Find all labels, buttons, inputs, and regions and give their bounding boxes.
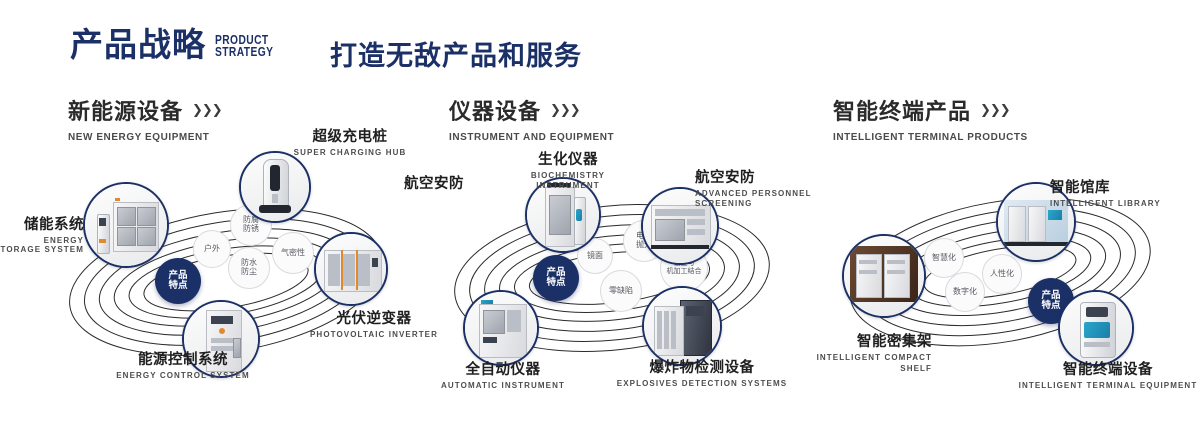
node-label-en: INTELLIGENT TERMINAL EQUIPMENT [1018,381,1198,390]
node-label-en: BIOCHEMISTRY INSTRUMENT [508,171,628,191]
chevron-right-icon: ❯❯❯ [550,102,580,118]
node-photovoltaic-inverter[interactable] [314,232,388,306]
section-title-cn: 智能终端产品 [833,94,971,126]
node-label-cn: 全自动仪器 [428,358,578,379]
title-en: PRODUCT STRATEGY [215,35,273,59]
node-label-cn: 超级充电桩 [275,125,425,146]
node-energy-storage-system[interactable] [83,182,169,268]
page-subtitle: 打造无敌产品和服务 [330,34,582,73]
node-label-cn: 航空安防 [404,172,504,193]
label-explosives-detection-systems: 爆炸物检测设备 EXPLOSIVES DETECTION SYSTEMS [612,356,792,388]
core-line1: 产品 [546,267,565,278]
label-super-charging-hub: 超级充电桩 SUPER CHARGING HUB [275,125,425,157]
feature-label: 镜面 [587,252,603,261]
section-heading-instrument: 仪器设备 ❯❯❯ INSTRUMENT AND EQUIPMENT [449,94,623,143]
node-label-en: ENERGY STORAGE SYSTEM [0,236,84,254]
section-title-en: INTELLIGENT TERMINAL PRODUCTS [833,131,1028,143]
core-line1: 产品 [1041,290,1060,301]
feature-bubble: 户外 [193,230,231,268]
node-label-en: SUPER CHARGING HUB [275,148,425,157]
node-intelligent-compact-shelf[interactable] [842,234,926,318]
node-label-en: ENERGY CONTROL SYSTEM [88,371,278,380]
feature-bubble: 气密性 [272,232,314,274]
section-title-cn: 仪器设备 [449,94,541,126]
automatic-instrument-icon [465,292,537,364]
infographic-canvas: 产品战略 PRODUCT STRATEGY 打造无敌产品和服务 新能源设备 ❯❯… [0,0,1200,422]
label-energy-storage-system: 储能系统 ENERGY STORAGE SYSTEM [0,213,84,254]
title-cn: 产品战略 [70,28,206,61]
feature-bubble: 零缺陷 [600,270,642,312]
node-label-en: INTELLIGENT COMPACT SHELF [802,353,932,375]
explosives-detector-icon [644,288,720,364]
compact-shelf-icon [844,236,924,316]
node-super-charging-hub[interactable] [239,151,311,223]
feature-label: 智慧化 [932,254,956,263]
core-line2: 特点 [1041,300,1060,311]
section-title-en: NEW ENERGY EQUIPMENT [68,131,214,143]
feature-label: 气密性 [281,249,305,258]
node-automatic-instrument[interactable] [463,290,539,366]
section-title-en: INSTRUMENT AND EQUIPMENT [449,131,614,143]
charging-pile-icon [241,153,309,221]
label-automatic-instrument: 全自动仪器 AUTOMATIC INSTRUMENT [428,358,578,390]
label-energy-control-system: 能源控制系统 ENERGY CONTROL SYSTEM [88,348,278,380]
pv-inverter-cabinet-icon [316,234,386,304]
node-label-cn: 生化仪器 [508,148,628,169]
feature-label: 数字化 [953,288,977,297]
feature-bubble: 人性化 [982,254,1022,294]
cluster-instrument: 产品特点 镜面 电解 抛光 钣金与 机加工结合 零缺陷 生化仪器 BIOCHEM… [420,150,820,410]
node-label-cn: 爆炸物检测设备 [612,356,792,377]
feature-label: 防水 防尘 [241,259,257,276]
energy-storage-cabinet-icon [85,184,167,266]
core-line2: 特点 [546,277,565,288]
node-label-cn: 储能系统 [0,213,84,234]
label-intelligent-terminal-equipment: 智能终端设备 INTELLIGENT TERMINAL EQUIPMENT [1018,358,1198,390]
node-explosives-detection-systems[interactable] [642,286,722,366]
terminal-kiosk-icon [1060,292,1132,364]
page-title: 产品战略 PRODUCT STRATEGY [70,28,286,61]
node-label-cn: 智能密集架 [802,330,932,351]
node-label-cn: 能源控制系统 [88,348,278,369]
section-heading-new-energy: 新能源设备 ❯❯❯ NEW ENERGY EQUIPMENT [68,94,222,143]
label-intelligent-library: 智能馆库 INTELLIGENT LIBRARY [1050,176,1200,208]
core-line2: 特点 [168,280,187,291]
chevron-right-icon: ❯❯❯ [192,102,222,118]
node-intelligent-terminal-equipment[interactable] [1058,290,1134,366]
node-label-cn: 智能终端设备 [1018,358,1198,379]
cluster-new-energy: 产品特点 户外 防腐 防锈 气密性 防水 防尘 储能系统 ENERGY STOR… [30,150,430,410]
label-biochemistry-instrument: 生化仪器 BIOCHEMISTRY INSTRUMENT [508,148,628,191]
node-label-en: EXPLOSIVES DETECTION SYSTEMS [612,379,792,388]
cluster-intelligent-terminal: 智慧化 人性化 数字化 产品特点 智能馆库 INTELLIGENT LIBRAR… [810,150,1200,410]
label-aviation-security-left: 航空安防 [404,172,504,193]
chevron-right-icon: ❯❯❯ [980,102,1010,118]
feature-label: 户外 [204,245,220,254]
core-line1: 产品 [168,270,187,281]
section-title-cn: 新能源设备 [68,94,183,126]
node-label-en: AUTOMATIC INSTRUMENT [428,381,578,390]
title-en-line2: STRATEGY [215,47,273,59]
feature-label: 人性化 [990,270,1014,279]
feature-label: 零缺陷 [609,287,633,296]
section-heading-intelligent-terminal: 智能终端产品 ❯❯❯ INTELLIGENT TERMINAL PRODUCTS [833,94,1038,143]
core-badge-instrument: 产品特点 [533,255,579,301]
feature-bubble: 数字化 [945,272,985,312]
feature-bubble: 防水 防尘 [228,247,270,289]
label-intelligent-compact-shelf: 智能密集架 INTELLIGENT COMPACT SHELF [802,330,932,375]
node-label-cn: 智能馆库 [1050,176,1200,197]
node-label-en: INTELLIGENT LIBRARY [1050,199,1200,208]
